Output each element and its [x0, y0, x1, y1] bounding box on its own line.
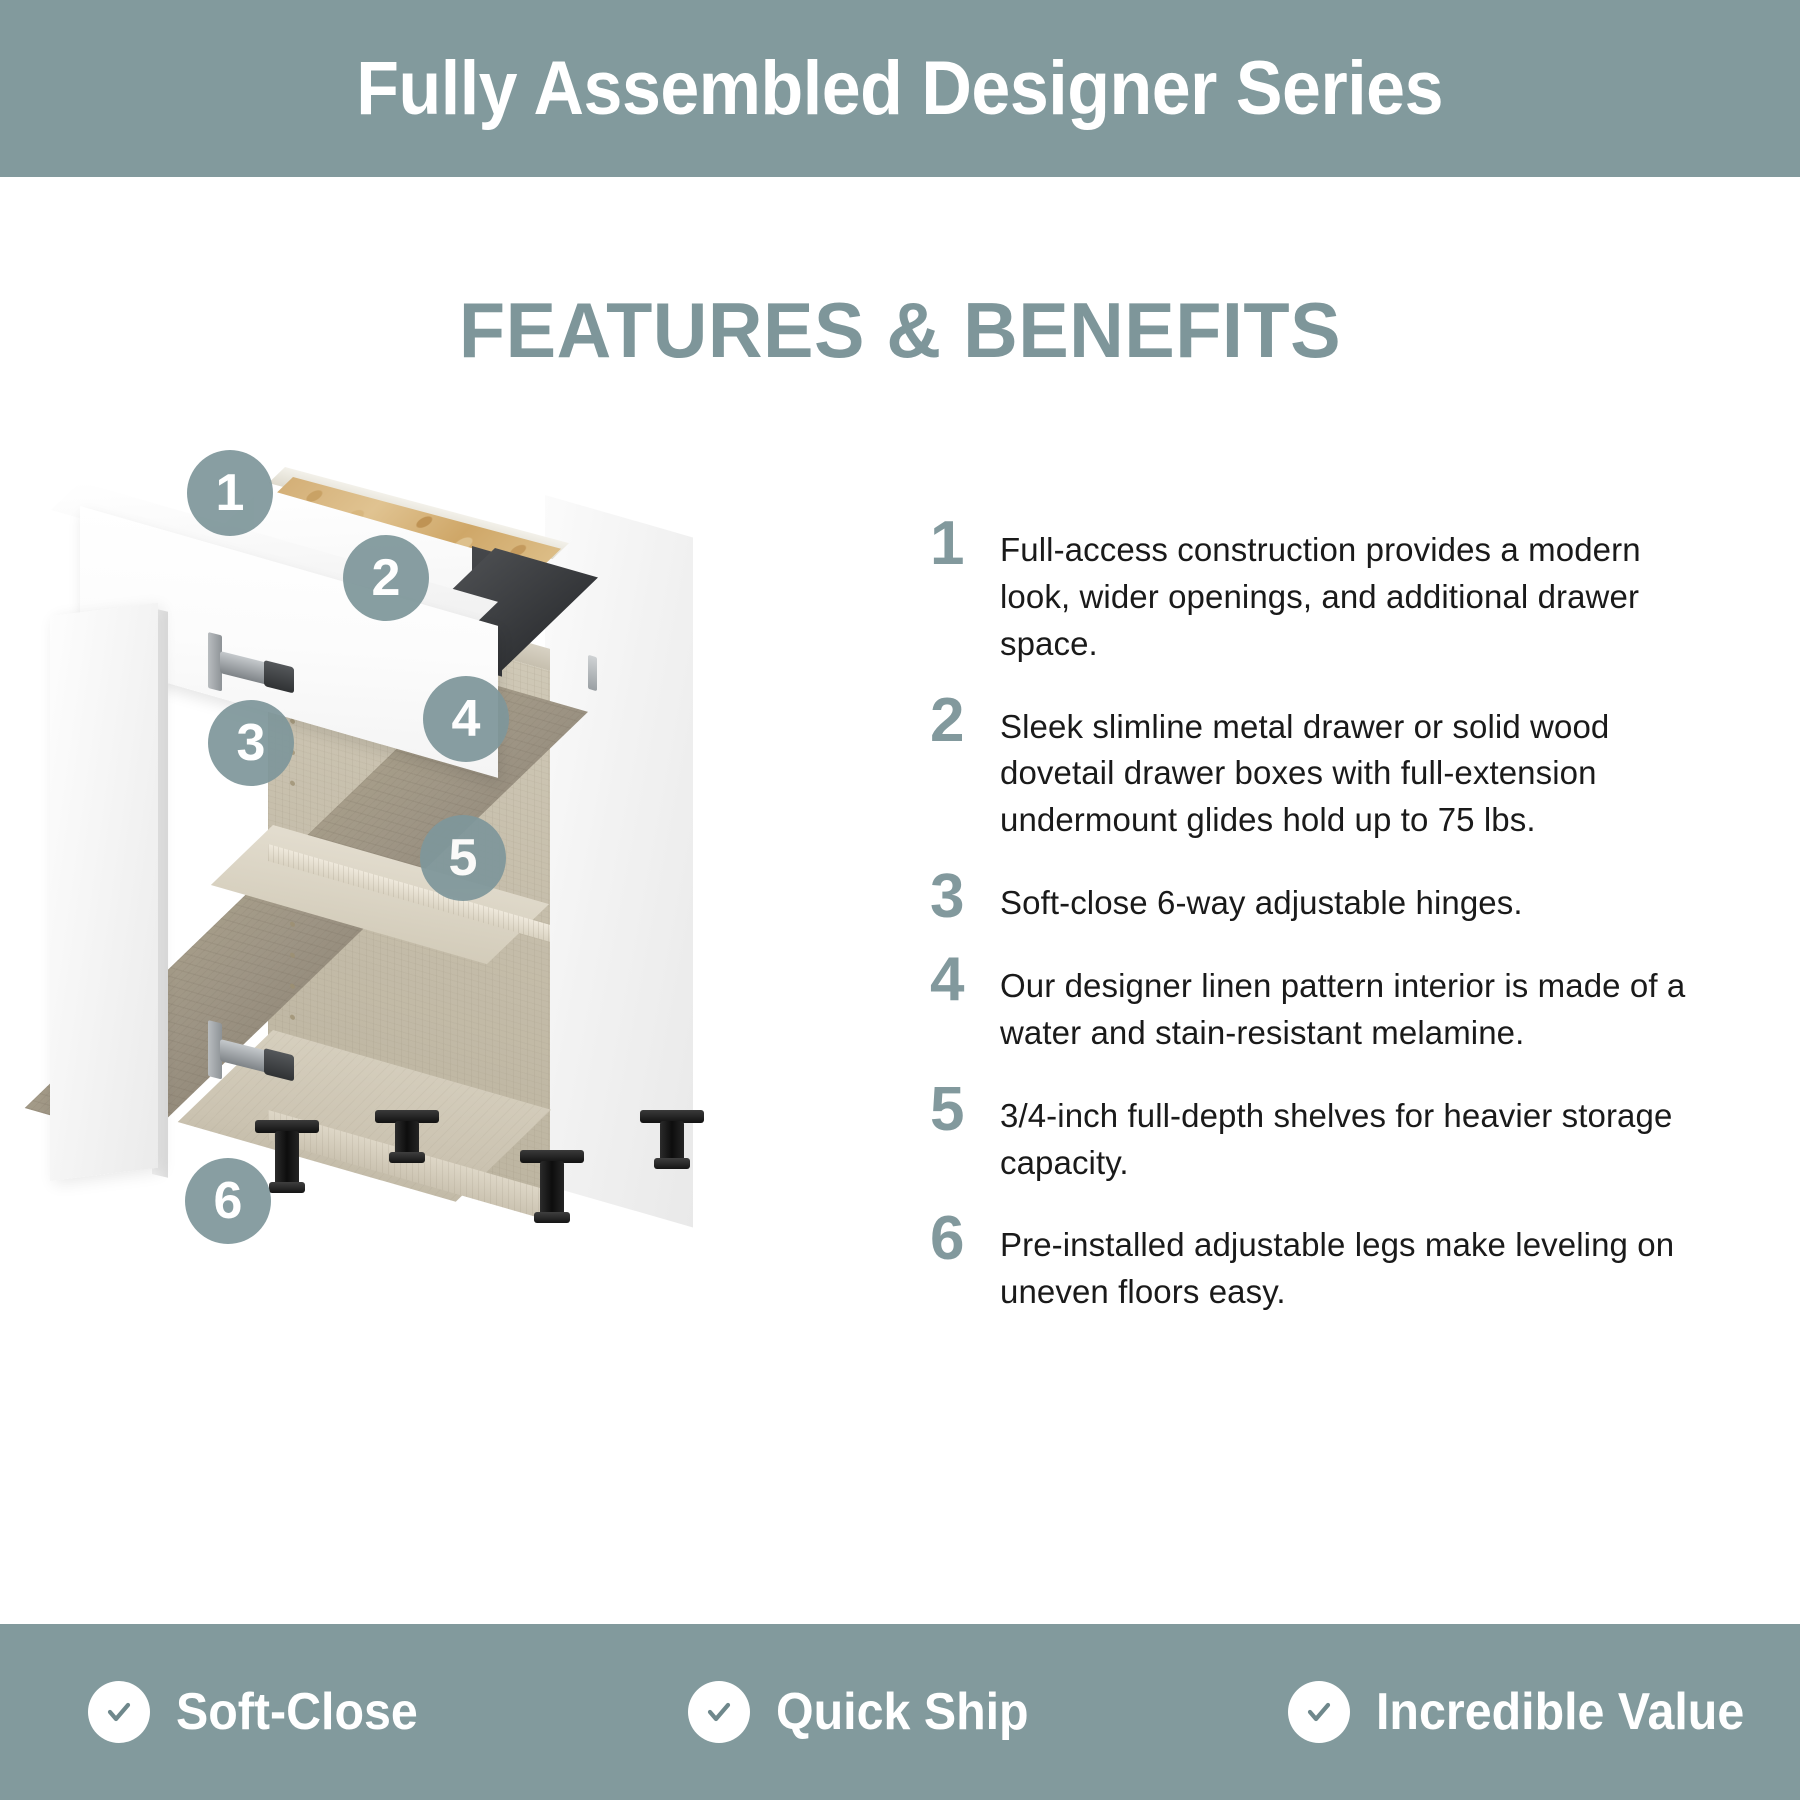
feature-number-6: 6 — [930, 1210, 1000, 1269]
feature-text-1: Full-access construction provides a mode… — [1000, 515, 1690, 668]
feature-text-5: 3/4-inch full-depth shelves for heavier … — [1000, 1081, 1690, 1187]
check-circle-icon — [1288, 1681, 1350, 1743]
features-list: 1 Full-access construction provides a mo… — [930, 515, 1690, 1340]
feature-item-3: 3 Soft-close 6-way adjustable hinges. — [930, 868, 1690, 927]
footer-badge-incredible-value: Incredible Value — [1200, 1681, 1800, 1743]
feature-item-6: 6 Pre-installed adjustable legs make lev… — [930, 1210, 1690, 1316]
footer-badge-soft-close: Soft-Close — [0, 1681, 600, 1743]
feature-item-2: 2 Sleek slimline metal drawer or solid w… — [930, 692, 1690, 845]
feature-text-2: Sleek slimline metal drawer or solid woo… — [1000, 692, 1690, 845]
feature-item-4: 4 Our designer linen pattern interior is… — [930, 951, 1690, 1057]
adjustable-leg-front-right — [520, 1150, 584, 1163]
footer-label-incredible-value: Incredible Value — [1376, 1682, 1744, 1742]
check-circle-icon — [688, 1681, 750, 1743]
soft-close-hinge-upper — [208, 632, 222, 691]
feature-number-5: 5 — [930, 1081, 1000, 1140]
footer-label-quick-ship: Quick Ship — [776, 1682, 1029, 1742]
callout-badge-2: 2 — [343, 535, 429, 621]
soft-close-hinge-lower — [208, 1020, 222, 1079]
footer-label-soft-close: Soft-Close — [176, 1682, 418, 1742]
feature-number-2: 2 — [930, 692, 1000, 751]
section-heading: FEATURES & BENEFITS — [27, 285, 1773, 376]
footer-bar: Soft-Close Quick Ship Incredible Value — [0, 1624, 1800, 1800]
feature-number-4: 4 — [930, 951, 1000, 1010]
adjustable-leg-back-right — [640, 1110, 704, 1123]
callout-badge-4: 4 — [423, 676, 509, 762]
callout-badge-3: 3 — [208, 700, 294, 786]
drawer-glide-rail — [588, 655, 597, 692]
feature-item-1: 1 Full-access construction provides a mo… — [930, 515, 1690, 668]
feature-item-5: 5 3/4-inch full-depth shelves for heavie… — [930, 1081, 1690, 1187]
callout-badge-6: 6 — [185, 1158, 271, 1244]
page-title: Fully Assembled Designer Series — [357, 51, 1444, 127]
footer-badge-quick-ship: Quick Ship — [600, 1681, 1200, 1743]
callout-badge-5: 5 — [420, 815, 506, 901]
cabinet-door-panel — [50, 603, 158, 1181]
header-bar: Fully Assembled Designer Series — [0, 0, 1800, 177]
adjustable-leg-back-left — [375, 1110, 439, 1123]
callout-badge-1: 1 — [187, 450, 273, 536]
feature-number-3: 3 — [930, 868, 1000, 927]
feature-number-1: 1 — [930, 515, 1000, 574]
check-circle-icon — [88, 1681, 150, 1743]
feature-text-3: Soft-close 6-way adjustable hinges. — [1000, 868, 1690, 927]
adjustable-leg-front-left — [255, 1120, 319, 1133]
feature-text-6: Pre-installed adjustable legs make level… — [1000, 1210, 1690, 1316]
feature-text-4: Our designer linen pattern interior is m… — [1000, 951, 1690, 1057]
